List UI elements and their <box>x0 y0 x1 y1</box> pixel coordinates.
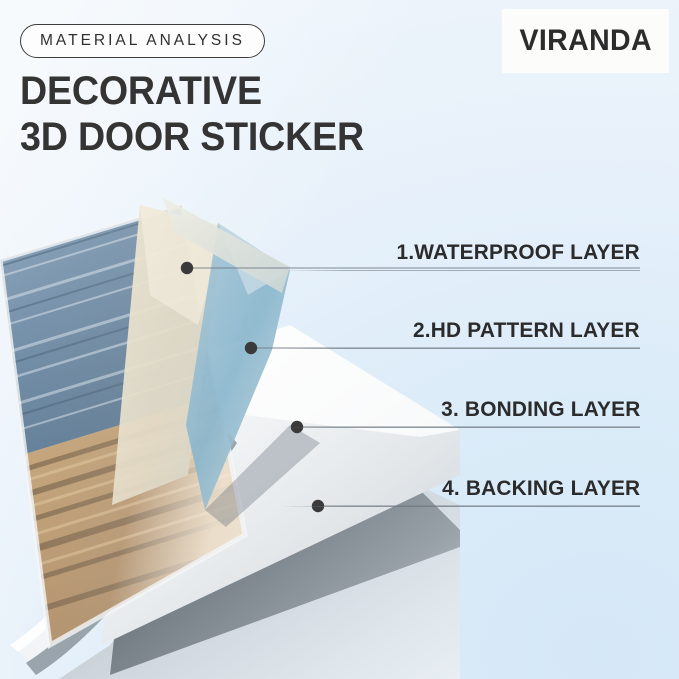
page-title: DECORATIVE 3D DOOR STICKER <box>20 68 364 160</box>
callout-hd-pattern-layer: 2.HD PATTERN LAYER <box>280 318 640 349</box>
callout-waterproof-layer: 1.WATERPROOF LAYER <box>280 240 640 271</box>
infographic-canvas: MATERIAL ANALYSIS DECORATIVE 3D DOOR STI… <box>0 0 679 679</box>
callout-backing-layer: 4. BACKING LAYER <box>280 476 640 507</box>
page-title-line-2: 3D DOOR STICKER <box>20 114 364 160</box>
callout-underline-1 <box>280 270 640 271</box>
callout-bonding-layer: 3. BONDING LAYER <box>280 397 640 428</box>
callout-underline-4 <box>280 506 640 507</box>
callout-label-3: 3. BONDING LAYER <box>441 397 640 427</box>
callout-label-1: 1.WATERPROOF LAYER <box>397 240 640 270</box>
callout-underline-2 <box>280 348 640 349</box>
page-title-line-1: DECORATIVE <box>20 69 262 113</box>
badge-material-analysis: MATERIAL ANALYSIS <box>20 24 265 58</box>
callout-label-2: 2.HD PATTERN LAYER <box>413 318 640 348</box>
callout-label-4: 4. BACKING LAYER <box>442 476 640 506</box>
badge-label: MATERIAL ANALYSIS <box>40 32 245 50</box>
brand-logo-box: VIRANDA <box>502 9 669 73</box>
brand-name: VIRANDA <box>519 24 652 58</box>
callout-underline-3 <box>280 427 640 428</box>
